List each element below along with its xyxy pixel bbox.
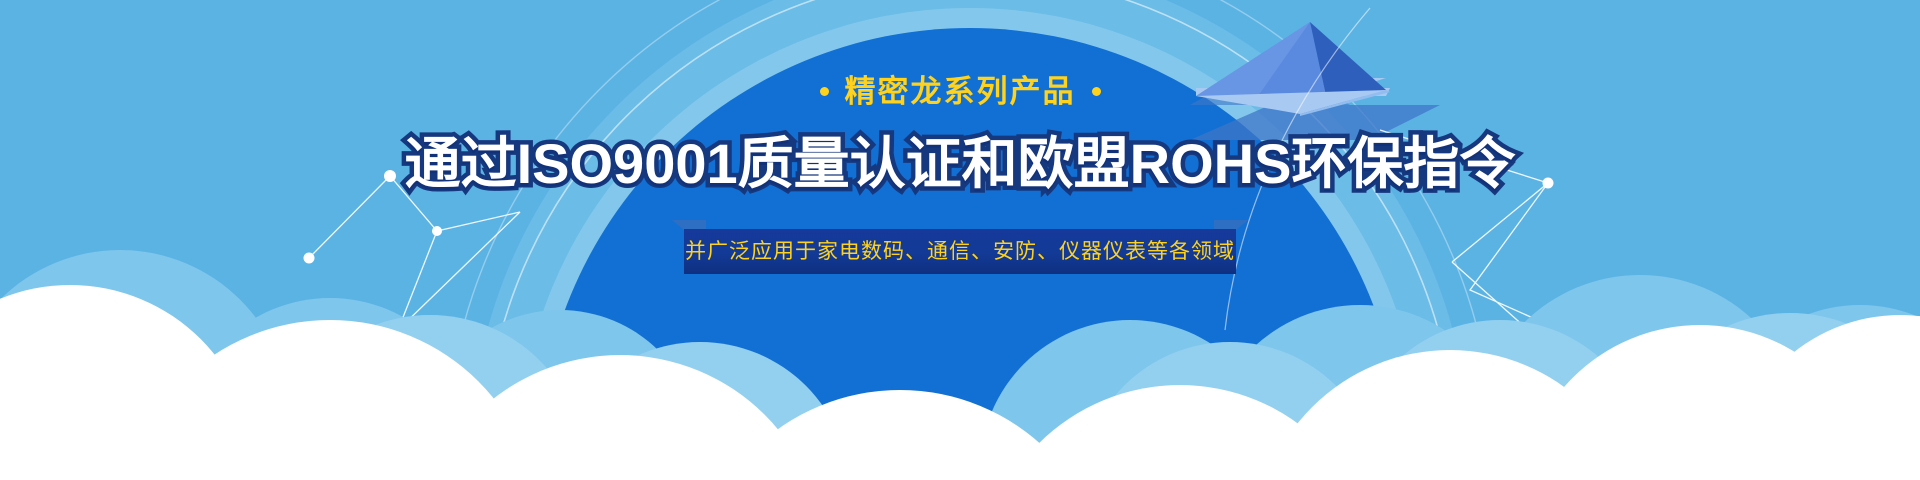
eyebrow-label: 精密龙系列产品 [820,76,1101,107]
bullet-dot-right-icon [1092,87,1101,96]
eyebrow-text: 精密龙系列产品 [845,76,1076,107]
subtitle-ribbon: 并广泛应用于家电数码、通信、安防、仪器仪表等各领域 [684,229,1236,274]
subtitle-ribbon-body: 并广泛应用于家电数码、通信、安防、仪器仪表等各领域 [684,229,1236,274]
promo-banner: 精密龙系列产品 通过ISO9001质量认证和欧盟ROHS环保指令 并广泛应用于家… [0,0,1920,480]
headline: 通过ISO9001质量认证和欧盟ROHS环保指令 [405,134,1516,193]
bullet-dot-left-icon [820,87,829,96]
subtitle-text: 并广泛应用于家电数码、通信、安防、仪器仪表等各领域 [685,241,1235,262]
